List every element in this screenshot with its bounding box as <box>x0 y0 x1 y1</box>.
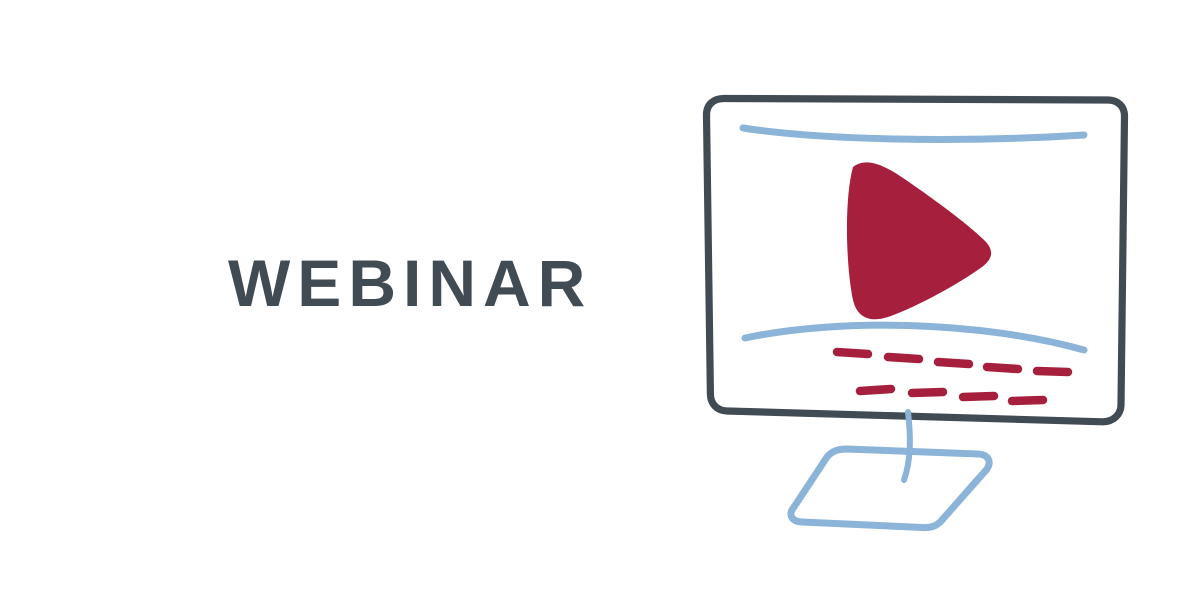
webinar-banner: WEBINAR <box>0 0 1200 600</box>
monitor-neck <box>904 412 910 480</box>
page-title: WEBINAR <box>228 243 648 323</box>
monitor-base <box>791 449 989 528</box>
webinar-monitor-illustration <box>660 60 1160 560</box>
